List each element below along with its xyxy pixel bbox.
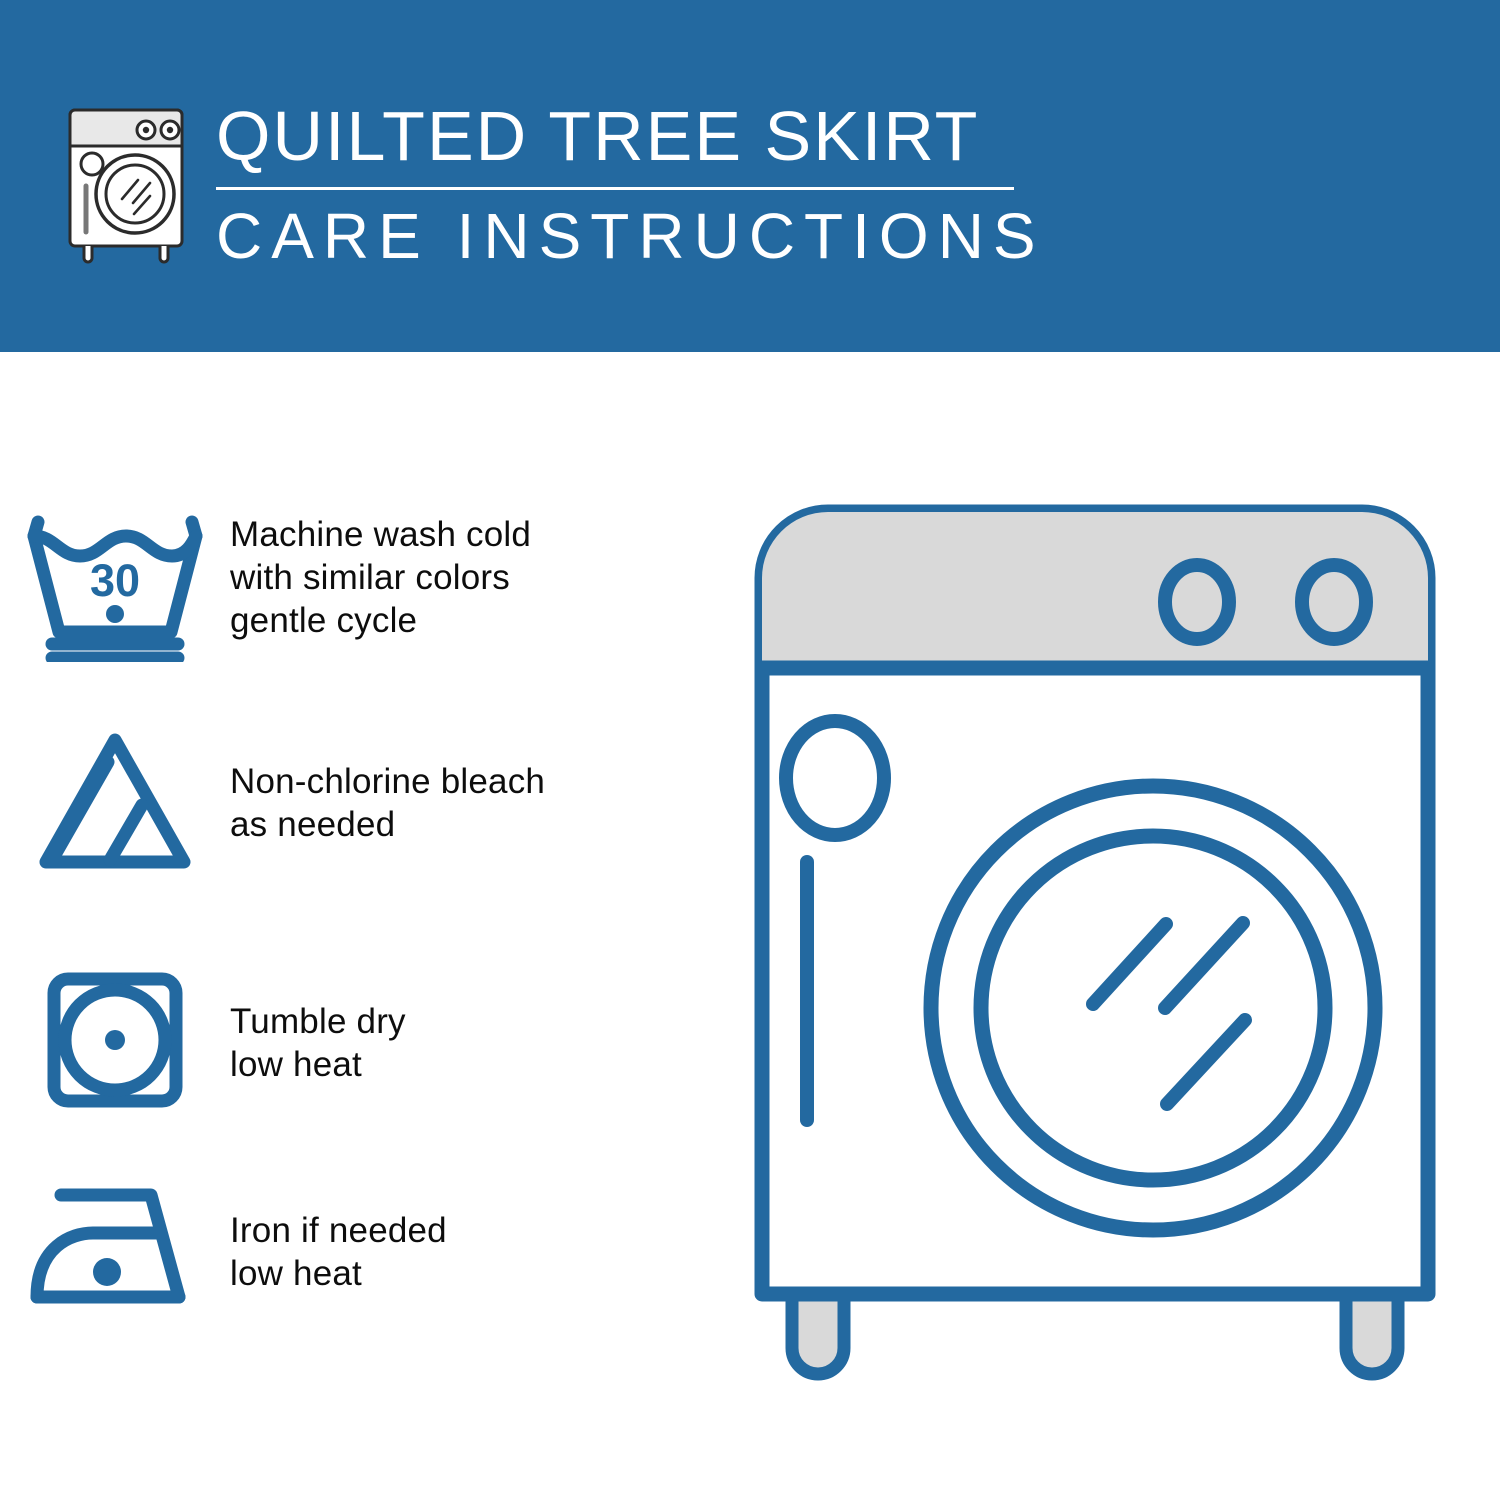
care-label-line: low heat bbox=[230, 1043, 406, 1086]
care-label: Iron if needed low heat bbox=[230, 1185, 447, 1295]
care-label-line: with similar colors bbox=[230, 556, 531, 599]
detergent-port bbox=[786, 721, 884, 835]
care-label-line: Iron if needed bbox=[230, 1209, 447, 1252]
header-text-block: QUILTED TREE SKIRT CARE INSTRUCTIONS bbox=[216, 96, 1026, 276]
care-label-line: gentle cycle bbox=[230, 599, 531, 642]
knob-right bbox=[1302, 565, 1366, 639]
header-banner: QUILTED TREE SKIRT CARE INSTRUCTIONS bbox=[0, 0, 1500, 352]
care-label-line: low heat bbox=[230, 1252, 447, 1295]
triangle-non-chlorine-bleach-icon bbox=[0, 730, 230, 872]
care-label: Tumble dry low heat bbox=[230, 970, 406, 1086]
care-label-line: Non-chlorine bleach bbox=[230, 760, 545, 803]
wash-temperature-value: 30 bbox=[90, 555, 140, 606]
foot-left bbox=[792, 1290, 844, 1374]
page-title: QUILTED TREE SKIRT bbox=[216, 96, 1026, 176]
care-row: Non-chlorine bleach as needed bbox=[0, 730, 740, 872]
care-label-line: Machine wash cold bbox=[230, 513, 531, 556]
wash-tub-30-gentle-icon: 30 bbox=[0, 510, 230, 662]
door-inner-ring bbox=[981, 836, 1325, 1180]
care-label: Machine wash cold with similar colors ge… bbox=[230, 510, 531, 642]
title-divider bbox=[216, 187, 1014, 190]
care-row: Iron if needed low heat bbox=[0, 1185, 740, 1307]
page-subtitle: CARE INSTRUCTIONS bbox=[216, 196, 1026, 276]
foot-right bbox=[1346, 1290, 1398, 1374]
care-label-line: as needed bbox=[230, 803, 545, 846]
care-instruction-list: 30 Machine wash cold with similar colors… bbox=[0, 352, 740, 1500]
care-label-line: Tumble dry bbox=[230, 1000, 406, 1043]
washing-machine-icon bbox=[62, 104, 190, 264]
care-row: 30 Machine wash cold with similar colors… bbox=[0, 510, 740, 662]
front-load-washing-machine-illustration bbox=[740, 490, 1450, 1420]
care-label: Non-chlorine bleach as needed bbox=[230, 730, 545, 846]
care-row: Tumble dry low heat bbox=[0, 970, 740, 1110]
tumble-dry-low-heat-icon bbox=[0, 970, 230, 1110]
iron-low-heat-icon bbox=[0, 1185, 230, 1307]
knob-left bbox=[1165, 565, 1229, 639]
